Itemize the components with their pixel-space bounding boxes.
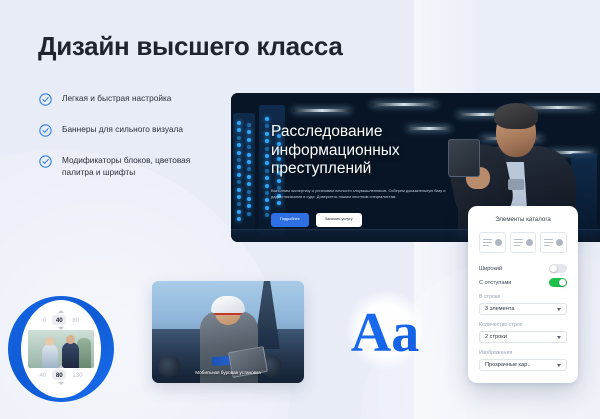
rack-led-column (265, 117, 269, 217)
circular-size-widget: 0 40 80 40 80 130 (8, 296, 114, 402)
text-lines-icon (483, 239, 492, 247)
typography-sample: Aa (330, 288, 440, 378)
field-label-row-count: Количество строк (479, 322, 567, 328)
photo-card[interactable]: Мобильная буровая установка (152, 281, 304, 383)
select-items-per-row[interactable]: 3 элемента (479, 303, 567, 315)
ceiling-light-icon (293, 109, 351, 112)
chevron-down-icon (557, 364, 561, 367)
rack-led-column (237, 121, 241, 221)
toggle-label-wide: Широкий (479, 266, 502, 272)
banner-secondary-button[interactable]: Заказать услугу (316, 213, 362, 227)
circle-widget-photo (28, 330, 94, 368)
banner-primary-button[interactable]: Подробнее (271, 213, 309, 227)
text-lines-icon (514, 239, 523, 247)
page-title: Дизайн высшего класса (38, 31, 343, 62)
list-item-label: Легкая и быстрая настройка (62, 92, 171, 104)
page-root: Дизайн высшего класса Легкая и быстрая н… (0, 0, 600, 419)
layout-variant-3-thumbnail[interactable] (540, 232, 567, 253)
toggle-wide[interactable] (549, 264, 567, 273)
feature-list: Легкая и быстрая настройка Баннеры для с… (39, 92, 219, 196)
check-circle-icon (39, 155, 52, 168)
image-placeholder-icon (495, 239, 502, 246)
field-label-images: Изображения (479, 350, 567, 356)
banner-button-group: Подробнее Заказать услугу (271, 213, 481, 227)
banner-title: Расследование информационных преступлени… (271, 123, 481, 179)
field-row-count: Количество строк 2 строки (479, 322, 567, 343)
check-circle-icon (39, 124, 52, 137)
stepper-top-max: 80 (72, 317, 79, 324)
select-row-count[interactable]: 2 строки (479, 331, 567, 343)
layout-variant-1-thumbnail[interactable] (479, 232, 506, 253)
select-value-items-per-row: 3 элемента (485, 306, 514, 312)
hard-hat-icon (211, 296, 245, 313)
chevron-up-icon[interactable] (58, 365, 64, 368)
chevron-down-icon[interactable] (58, 382, 64, 385)
layout-variant-group (479, 232, 567, 253)
toggle-row-wide: Широкий (479, 264, 567, 273)
field-images: Изображения Прозрачные кар.. (479, 350, 567, 371)
field-items-per-row: В строке 3 элемента (479, 294, 567, 315)
stepper-bottom: 40 80 130 (21, 370, 101, 380)
stepper-top: 0 40 80 (21, 315, 101, 325)
toggle-label-padding: С отступами (479, 280, 511, 286)
chevron-up-icon[interactable] (58, 310, 64, 313)
stepper-bottom-max: 130 (72, 372, 82, 379)
chevron-down-icon (557, 336, 561, 339)
typography-tile: Aa (330, 288, 440, 378)
list-item-label: Баннеры для сильного визуала (62, 123, 183, 135)
select-images[interactable]: Прозрачные кар.. (479, 359, 567, 371)
catalog-settings-panel: Элементы каталога Шир (468, 206, 578, 383)
stepper-top-min: 0 (43, 317, 46, 324)
toggle-padding[interactable] (549, 278, 567, 287)
rack-led-column (247, 123, 251, 216)
select-value-row-count: 2 строки (485, 334, 507, 340)
image-placeholder-icon (556, 239, 563, 246)
ceiling-light-icon (371, 103, 437, 106)
banner-content: Расследование информационных преступлени… (271, 123, 481, 227)
stepper-bottom-value[interactable]: 80 (52, 370, 66, 380)
check-circle-icon (39, 93, 52, 106)
photo-caption: Мобильная буровая установка (152, 370, 304, 375)
text-lines-icon (544, 239, 553, 247)
banner-description: Выполним экспертизу и установим личности… (271, 188, 455, 201)
list-item: Модификаторы блоков, цветовая палитра и … (39, 154, 219, 179)
select-value-images: Прозрачные кар.. (485, 362, 530, 368)
image-placeholder-icon (526, 239, 533, 246)
chevron-down-icon (557, 308, 561, 311)
list-item: Баннеры для сильного визуала (39, 123, 219, 137)
stepper-bottom-min: 40 (39, 372, 46, 379)
layout-variant-2-thumbnail[interactable] (510, 232, 537, 253)
field-label-items-per-row: В строке (479, 294, 567, 300)
toggle-row-padding: С отступами (479, 278, 567, 287)
list-item-label: Модификаторы блоков, цветовая палитра и … (62, 154, 219, 179)
stepper-top-value[interactable]: 40 (52, 315, 66, 325)
panel-title: Элементы каталога (479, 216, 567, 223)
list-item: Легкая и быстрая настройка (39, 92, 219, 106)
